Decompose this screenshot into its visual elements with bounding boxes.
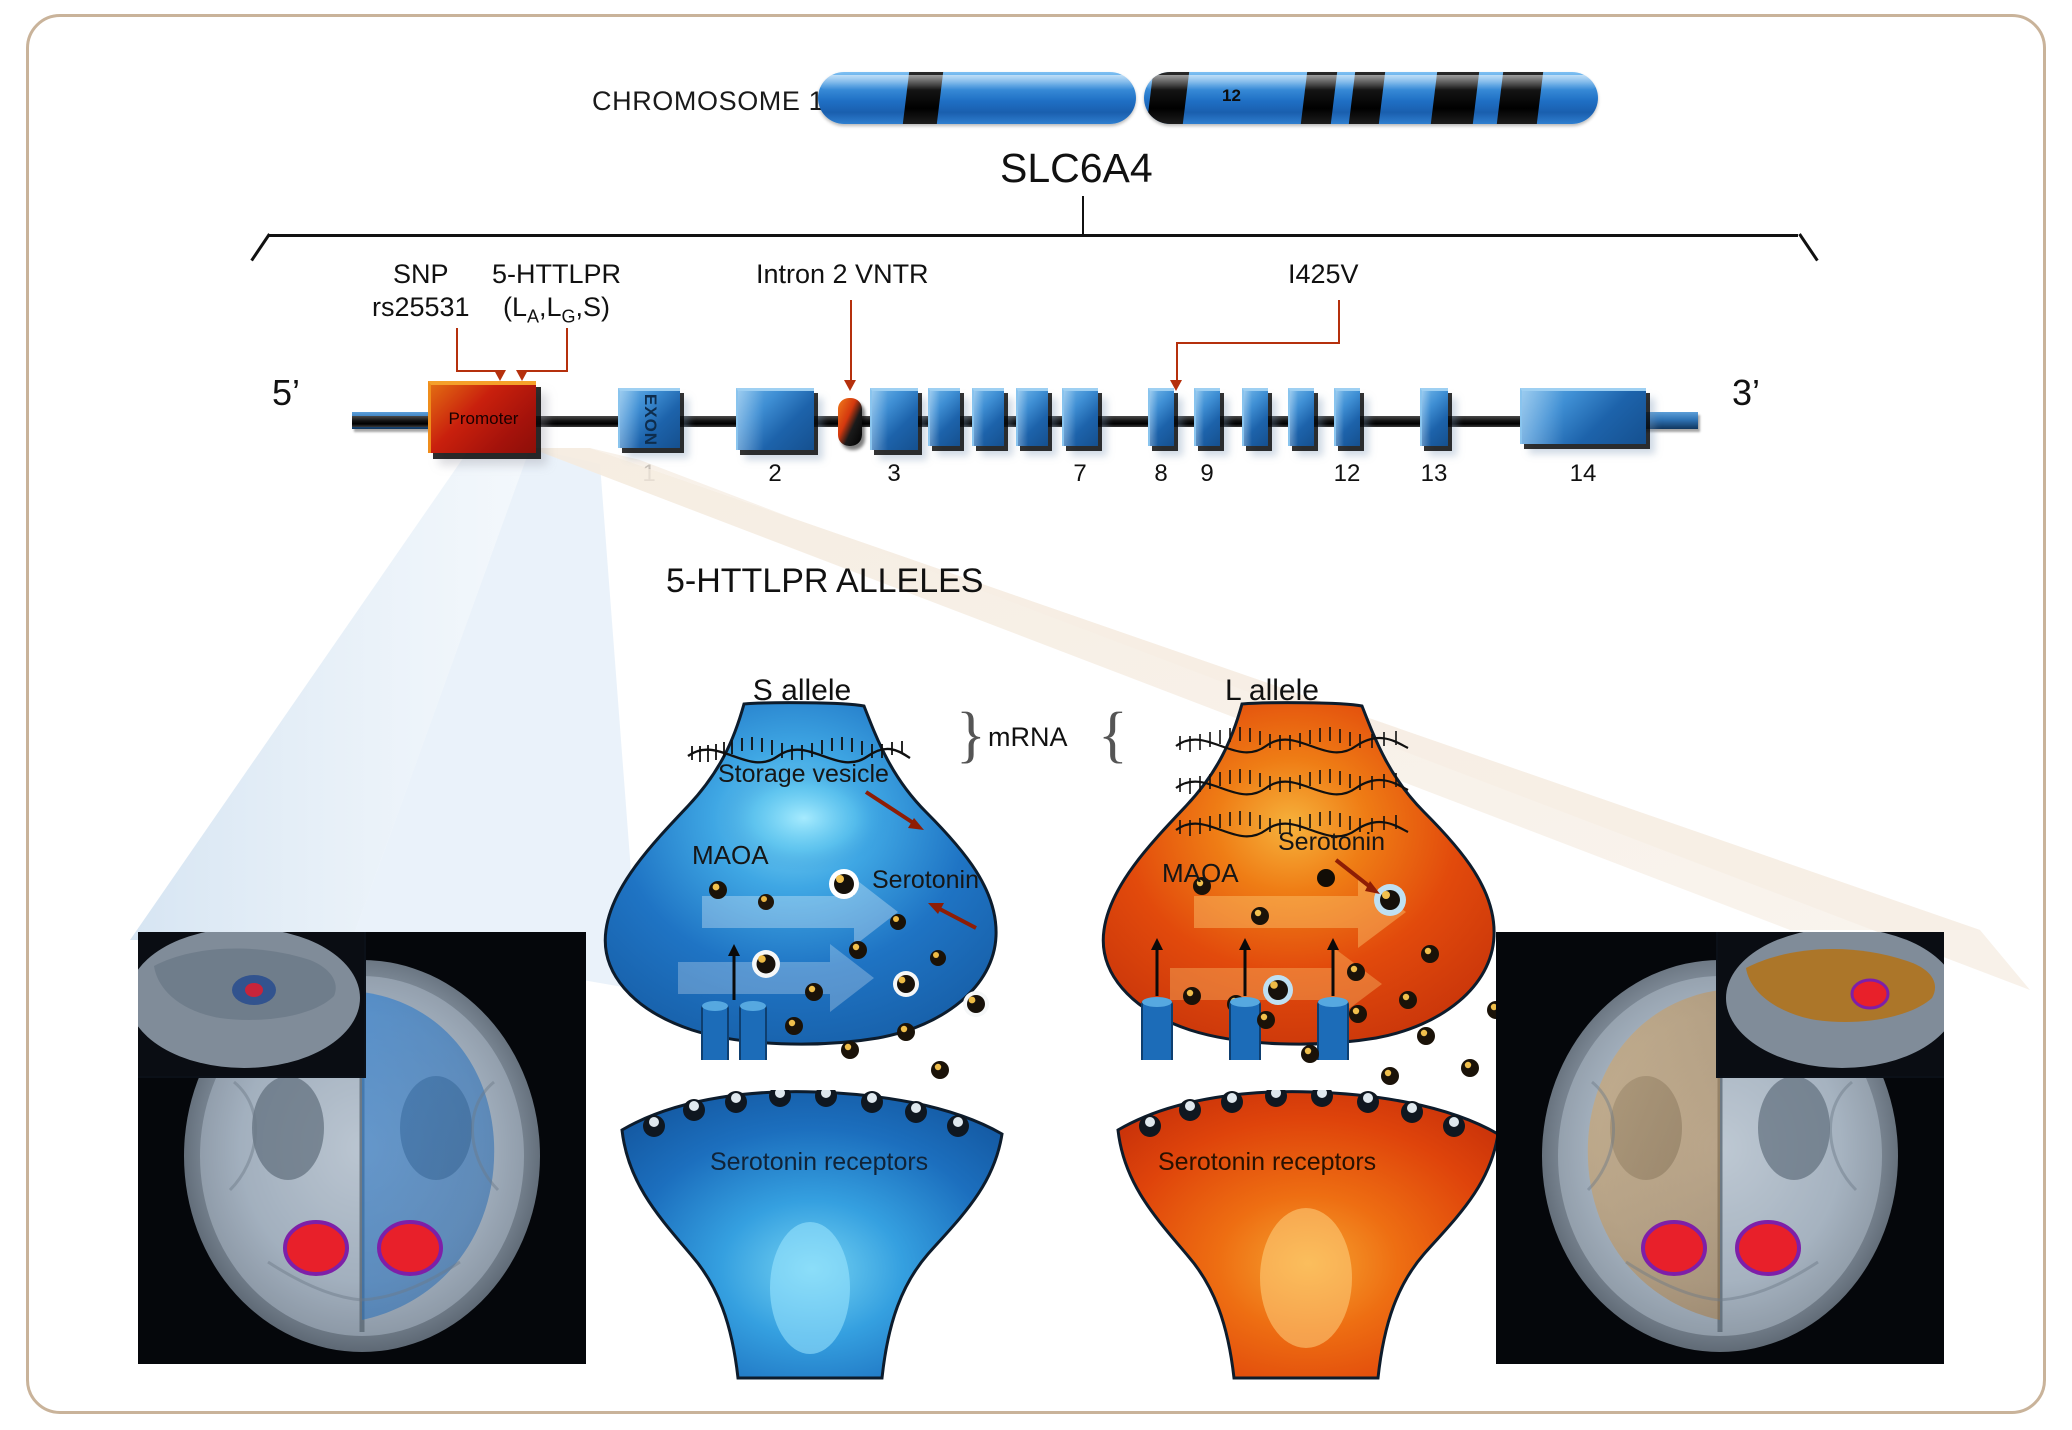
chromosome-label: CHROMOSOME 17 <box>592 86 840 117</box>
gene-bracket-stem <box>1082 196 1084 236</box>
exon1-inner-label: EXON <box>640 393 660 445</box>
chromosome-ideogram: 12 <box>818 72 1598 124</box>
httlpr-mid: ,L <box>539 292 562 322</box>
annotation-httlpr: 5-HTTLPR (LA,LG,S) <box>492 258 621 328</box>
lead-vntr-vertical <box>850 300 852 384</box>
l-allele-title: L allele <box>1182 674 1362 708</box>
exon-box-7 <box>1062 388 1098 446</box>
lead-i425v-horizontal <box>1176 342 1340 344</box>
s-allele-postsynaptic-terminal <box>610 1090 1010 1380</box>
s-allele-serotonin-label: Serotonin <box>872 866 979 895</box>
exon-box-3 <box>870 388 918 450</box>
mri-left-inset <box>138 932 366 1078</box>
s-allele-synaptic-cleft-molecules <box>770 980 1040 1100</box>
gene-bracket-bar <box>268 234 1798 237</box>
lead-i425v-drop <box>1176 342 1178 384</box>
s-allele-storage-vesicle-arrow <box>862 788 942 844</box>
httlpr-prefix: (L <box>503 292 527 322</box>
vntr-marker <box>838 398 862 446</box>
exon-box-4 <box>928 388 960 446</box>
annotation-snp-line2: rs25531 <box>372 291 470 324</box>
annotation-snp-line1: SNP <box>372 258 470 291</box>
exon-box-13 <box>1420 388 1448 446</box>
annotation-i425v: I425V <box>1288 258 1359 291</box>
s-allele-title: S allele <box>712 674 892 708</box>
lead-snp-vertical <box>456 328 458 372</box>
exon-box-9 <box>1194 388 1220 446</box>
lead-httlpr-vertical <box>566 328 568 372</box>
l-allele-mrna-brace: { <box>1098 700 1128 771</box>
chromosome-arm-q <box>1144 72 1598 124</box>
l-allele-receptors-label: Serotonin receptors <box>1158 1148 1376 1177</box>
exon-box-5 <box>972 388 1004 446</box>
mri-panel-right <box>1496 932 1944 1364</box>
exon-box-11 <box>1288 388 1314 446</box>
l-allele-maoa-label: MAOA <box>1162 858 1239 889</box>
lead-httlpr-horizontal <box>522 370 568 372</box>
l-allele-serotonin-arrow <box>1330 856 1400 906</box>
exon-box-12 <box>1334 388 1360 446</box>
exon-box-8 <box>1148 388 1174 446</box>
s-allele-maoa-label: MAOA <box>692 840 769 871</box>
exon-box-10 <box>1242 388 1268 446</box>
annotation-intron2-vntr: Intron 2 VNTR <box>756 258 929 291</box>
exon-box-2 <box>736 388 814 450</box>
chromosome-band-number: 12 <box>1222 86 1241 106</box>
exon-box-14 <box>1520 388 1646 444</box>
promoter-box: Promoter <box>428 381 536 453</box>
mri-right-inset <box>1716 932 1944 1078</box>
promoter-label: Promoter <box>431 409 536 429</box>
s-allele-receptors-label: Serotonin receptors <box>710 1148 928 1177</box>
httlpr-sub-a: A <box>527 306 539 326</box>
s-allele-serotonin-arrow <box>918 894 988 940</box>
httlpr-sub-g: G <box>562 306 576 326</box>
annotation-httlpr-alleles: (LA,LG,S) <box>492 291 621 328</box>
exon-box-1: EXON <box>618 388 680 448</box>
mrna-label: mRNA <box>988 722 1068 753</box>
s-allele-mrna-brace: } <box>956 700 986 771</box>
figure-canvas: CHROMOSOME 17 12 SLC6A4 SNP rs25531 5-HT… <box>0 0 2072 1430</box>
alleles-section-title: 5-HTTLPR ALLELES <box>666 562 983 601</box>
chromosome-arm-p <box>818 72 1136 124</box>
s-allele-storage-vesicle-label: Storage vesicle <box>718 760 889 789</box>
exon-box-6 <box>1016 388 1048 446</box>
l-allele-serotonin-label: Serotonin <box>1278 828 1385 857</box>
l-allele-synaptic-cleft-molecules <box>1240 980 1530 1110</box>
httlpr-suffix: ,S) <box>576 292 611 322</box>
lead-i425v-vertical <box>1338 300 1340 344</box>
annotation-httlpr-line1: 5-HTTLPR <box>492 258 621 291</box>
gene-name-title: SLC6A4 <box>1000 145 1153 192</box>
mri-panel-left <box>138 932 586 1364</box>
l-allele-postsynaptic-terminal <box>1106 1090 1506 1380</box>
annotation-snp: SNP rs25531 <box>372 258 470 324</box>
